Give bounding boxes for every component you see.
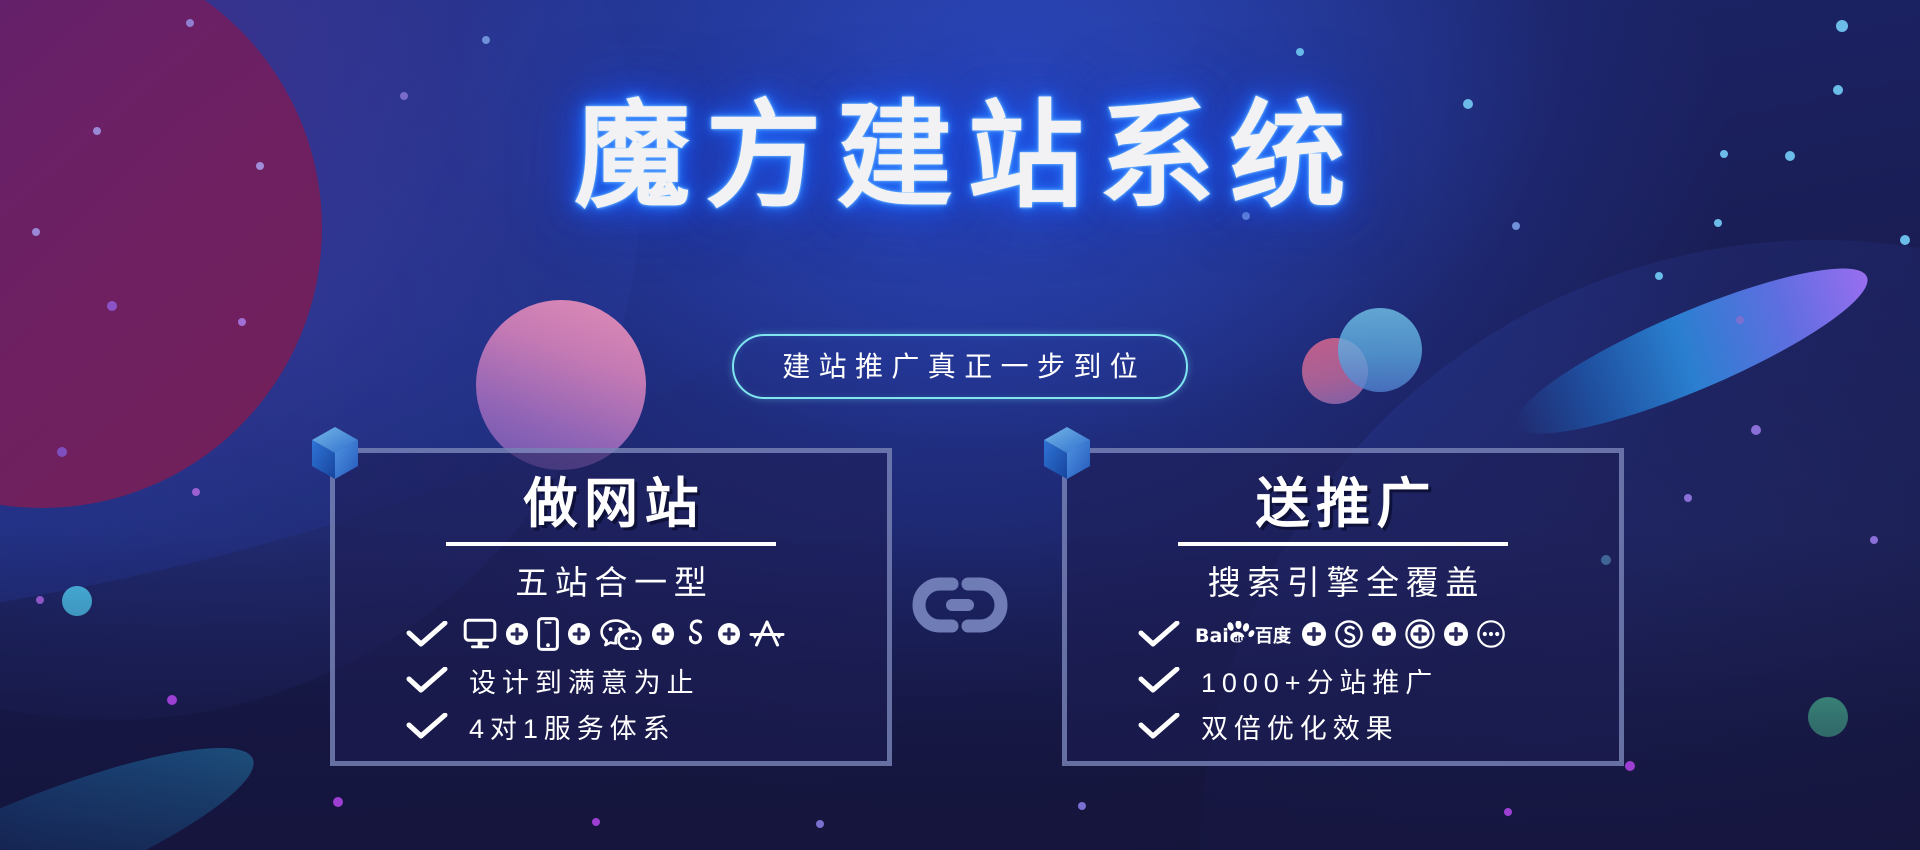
star-dot: [57, 447, 67, 457]
star-dot: [1078, 802, 1086, 810]
wechat-icon: [599, 618, 643, 650]
check-icon: [1137, 667, 1181, 693]
star-dot: [592, 818, 600, 826]
check-icon: [405, 667, 449, 693]
link-icon: [910, 574, 1010, 641]
feature-text: 4对1服务体系: [463, 707, 676, 746]
star-dot: [1684, 494, 1692, 502]
mini-program-icon: [683, 618, 709, 650]
star-dot: [167, 695, 177, 705]
card-subtitle-left: 五站合一型: [335, 556, 887, 604]
star-dot: [816, 820, 824, 828]
promo-banner: 魔方建站系统 建站推广真正一步到位: [0, 0, 1920, 850]
desktop-monitor-icon: [463, 618, 497, 650]
card-subtitle-right: 搜索引擎全覆盖: [1067, 556, 1619, 604]
star-dot: [482, 36, 490, 44]
feature-row-double-effect: 双倍优化效果: [1137, 706, 1619, 746]
baidu-logo-icon: Bai du 百度: [1195, 621, 1293, 647]
subtitle-pill: 建站推广真正一步到位: [732, 334, 1188, 399]
feature-text: 1000+分站推广: [1195, 661, 1438, 700]
feature-row-platform-icons: [405, 614, 887, 654]
star-dot: [1736, 316, 1744, 324]
plus-icon: [506, 623, 528, 645]
title-underline-right: [1178, 542, 1508, 546]
cube-icon: [304, 422, 366, 484]
plus-icon: [1444, 622, 1468, 646]
star-dot: [1900, 235, 1910, 245]
star-dot: [1751, 425, 1761, 435]
star-dot: [32, 228, 40, 236]
star-dot: [36, 596, 44, 604]
star-dot: [1870, 536, 1878, 544]
cube-icon: [1036, 422, 1098, 484]
feature-text: 双倍优化效果: [1195, 707, 1399, 746]
so360-icon: [1405, 619, 1435, 649]
search-engine-icon-group: Bai du 百度: [1195, 619, 1505, 649]
card-title-right: 送推广: [1067, 475, 1619, 532]
star-dot: [1714, 219, 1722, 227]
star-dot: [1504, 808, 1512, 816]
feature-row-search-engines: Bai du 百度: [1137, 614, 1619, 654]
star-dot: [333, 797, 343, 807]
svg-text:Bai: Bai: [1195, 625, 1229, 647]
subtitle-container: 建站推广真正一步到位: [0, 334, 1920, 399]
star-dot: [1833, 85, 1843, 95]
plus-icon: [718, 623, 740, 645]
page-title: 魔方建站系统: [559, 96, 1361, 218]
plus-icon: [1302, 622, 1326, 646]
card-title-left: 做网站: [335, 475, 887, 532]
svg-text:百度: 百度: [1255, 625, 1292, 647]
headline-container: 魔方建站系统: [0, 96, 1920, 218]
star-dot: [1625, 761, 1635, 771]
plus-icon: [1372, 622, 1396, 646]
star-dot: [186, 19, 194, 27]
check-icon: [1137, 713, 1181, 739]
star-dot: [1296, 48, 1304, 56]
app-store-icon: [749, 618, 785, 650]
star-dot: [1512, 222, 1520, 230]
feature-row-service: 4对1服务体系: [405, 706, 887, 746]
sogou-icon: [1335, 620, 1363, 648]
mobile-phone-icon: [537, 617, 559, 651]
check-icon: [1137, 621, 1181, 647]
more-ellipsis-icon: [1477, 620, 1505, 648]
plus-icon: [652, 623, 674, 645]
feature-row-design: 设计到满意为止: [405, 660, 887, 700]
feature-row-substations: 1000+分站推广: [1137, 660, 1619, 700]
platform-icon-group: [463, 617, 785, 651]
plus-icon: [568, 623, 590, 645]
title-underline-left: [446, 542, 776, 546]
star-dot: [107, 301, 117, 311]
card-make-website[interactable]: 做网站 五站合一型: [330, 448, 892, 766]
star-dot: [1836, 20, 1848, 32]
star-dot: [192, 488, 200, 496]
star-dot: [238, 318, 246, 326]
check-icon: [405, 621, 449, 647]
feature-text: 设计到满意为止: [463, 661, 700, 700]
svg-text:du: du: [1233, 635, 1245, 644]
card-free-promotion[interactable]: 送推广 搜索引擎全覆盖 Bai: [1062, 448, 1624, 766]
star-dot: [1655, 272, 1663, 280]
check-icon: [405, 713, 449, 739]
